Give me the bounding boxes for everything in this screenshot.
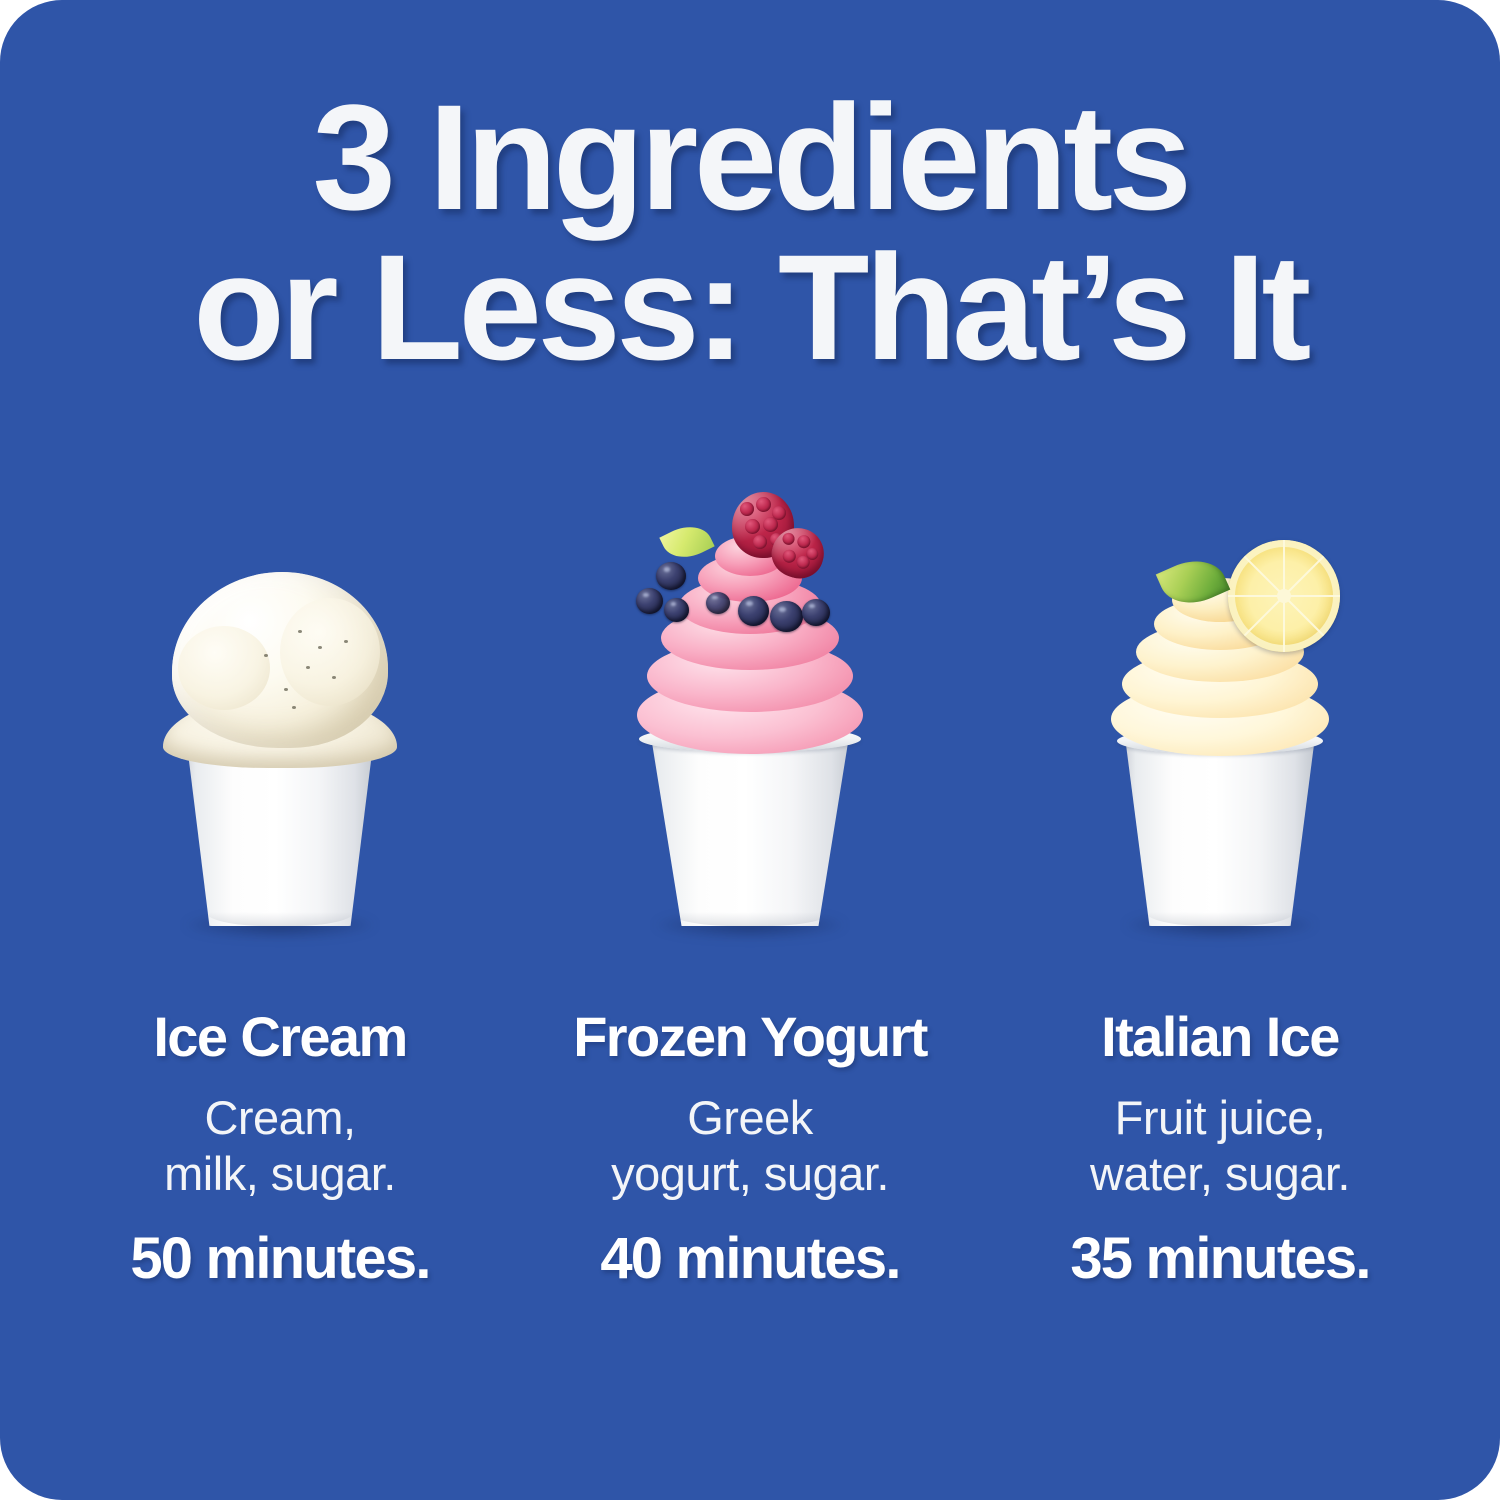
scoop-lobe	[280, 598, 380, 706]
lemon-slice-icon	[1228, 540, 1340, 652]
blueberry-icon	[636, 588, 663, 614]
vanilla-bean-fleck	[298, 630, 302, 633]
vanilla-bean-fleck	[284, 688, 288, 691]
product-name: Ice Cream	[153, 1008, 406, 1066]
blueberry-icon	[656, 562, 686, 590]
raspberry-drupelet	[745, 519, 760, 534]
raspberry-drupelet	[781, 531, 796, 546]
mint-leaf-icon	[659, 518, 714, 567]
blueberry-icon	[706, 592, 730, 614]
lemon-segment	[1244, 595, 1285, 636]
product-ingredients: Greek yogurt, sugar.	[611, 1090, 889, 1202]
raspberry-drupelet	[756, 497, 771, 512]
product-time: 40 minutes.	[600, 1228, 899, 1290]
vanilla-scoop	[172, 572, 388, 748]
lemon-segment	[1283, 595, 1324, 636]
ingredients-line-2: water, sugar.	[1090, 1146, 1350, 1202]
raspberry-drupelet	[763, 517, 778, 532]
product-name: Italian Ice	[1101, 1008, 1339, 1066]
lemon-soft-serve-swirl	[1100, 506, 1340, 756]
lemon-segment	[1228, 595, 1284, 597]
lemon-segment	[1283, 596, 1285, 652]
paper-cup	[1122, 744, 1318, 926]
product-name: Frozen Yogurt	[573, 1008, 927, 1066]
product-card-frozen-yogurt: Frozen Yogurt Greek yogurt, sugar. 40 mi…	[530, 560, 970, 1290]
raspberry-drupelet	[740, 502, 754, 516]
product-ingredients: Fruit juice, water, sugar.	[1090, 1090, 1350, 1202]
vanilla-bean-fleck	[332, 676, 336, 679]
page-title-line-1: 3 Ingredients	[0, 82, 1500, 232]
blueberry-icon	[664, 598, 689, 622]
ingredients-line-1: Greek	[611, 1090, 889, 1146]
product-ingredients: Cream, milk, sugar.	[164, 1090, 396, 1202]
blueberry-icon	[802, 599, 830, 626]
paper-cup	[643, 740, 857, 926]
blueberry-icon	[738, 596, 769, 626]
page-title: 3 Ingredients or Less: That’s It	[0, 82, 1500, 382]
page-title-line-2: or Less: That’s It	[0, 232, 1500, 382]
lemon-segment	[1283, 556, 1324, 597]
product-card-italian-ice: Italian Ice Fruit juice, water, sugar. 3…	[1000, 560, 1440, 1290]
lemon-segment	[1283, 540, 1285, 596]
vanilla-ice-cream-cup-icon	[130, 560, 430, 950]
vanilla-bean-fleck	[344, 640, 348, 643]
ingredients-line-1: Cream,	[164, 1090, 396, 1146]
vanilla-bean-fleck	[318, 646, 322, 649]
ingredients-line-2: milk, sugar.	[164, 1146, 396, 1202]
product-card-ice-cream: Ice Cream Cream, milk, sugar. 50 minutes…	[60, 560, 500, 1290]
vanilla-bean-fleck	[306, 666, 310, 669]
product-time: 35 minutes.	[1070, 1228, 1369, 1290]
ingredients-line-1: Fruit juice,	[1090, 1090, 1350, 1146]
pink-soft-serve-swirl	[630, 504, 870, 754]
blueberry-icon	[770, 601, 803, 632]
poster-canvas: 3 Ingredients or Less: That’s It	[0, 0, 1500, 1500]
vanilla-bean-fleck	[264, 654, 268, 657]
lemon-italian-ice-cup-icon	[1070, 560, 1370, 950]
lemon-segment	[1284, 595, 1340, 597]
ingredients-line-2: yogurt, sugar.	[611, 1146, 889, 1202]
product-columns: Ice Cream Cream, milk, sugar. 50 minutes…	[60, 560, 1440, 1290]
raspberry-drupelet	[781, 548, 797, 564]
raspberry-drupelet	[753, 535, 767, 549]
scoop-lobe	[178, 626, 270, 710]
product-time: 50 minutes.	[130, 1228, 429, 1290]
vanilla-bean-fleck	[292, 706, 296, 709]
pink-frozen-yogurt-cup-icon	[600, 560, 900, 950]
